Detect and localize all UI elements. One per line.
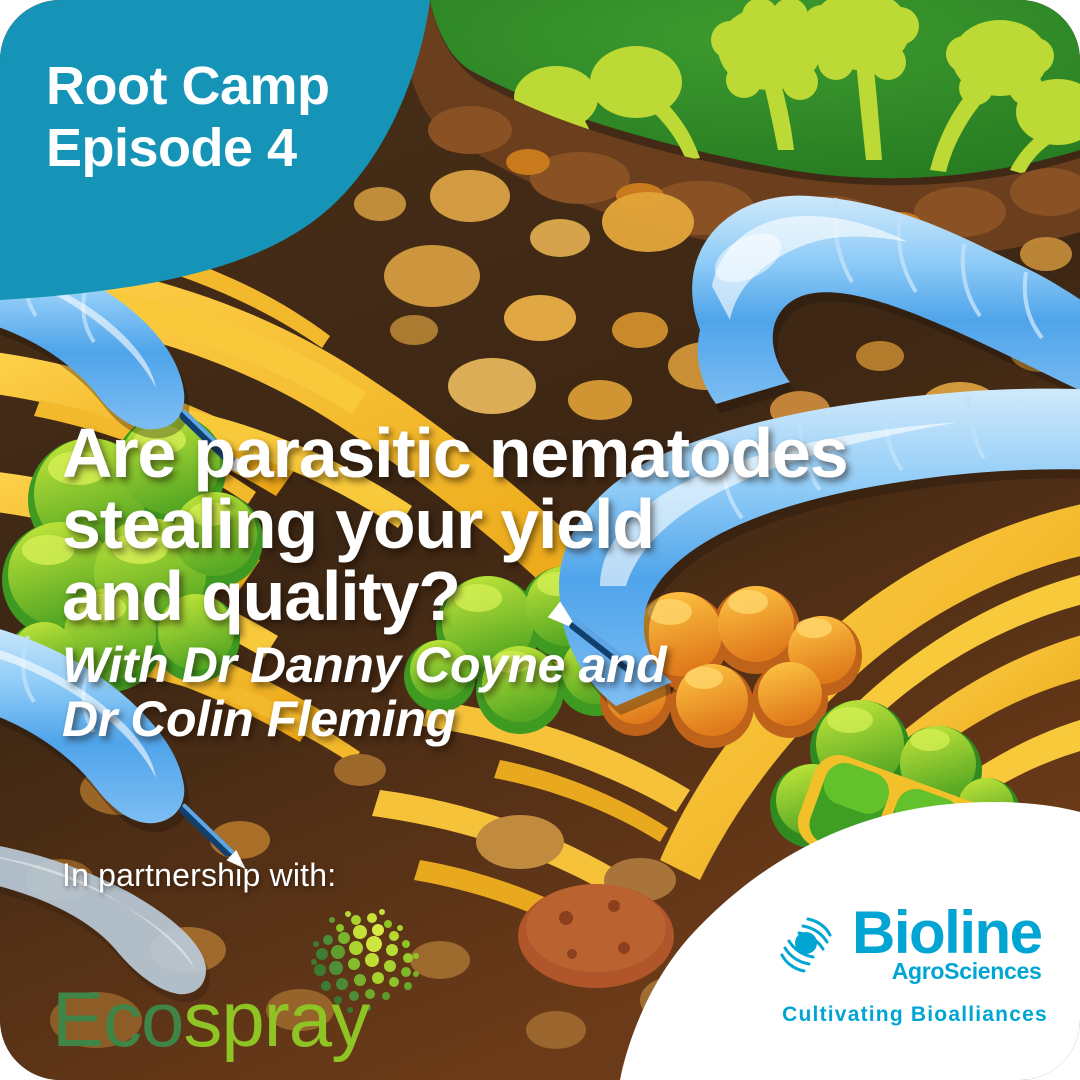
ecospray-word-spray: spray: [183, 975, 369, 1063]
episode-badge-text: Root Camp Episode 4: [46, 56, 329, 179]
episode-title: Are parasitic nematodes stealing your yi…: [62, 418, 1042, 632]
headline-block: Are parasitic nematodes stealing your yi…: [62, 418, 1042, 746]
ecospray-word-eco: Eco: [52, 975, 183, 1063]
bioline-logo: Bioline AgroSciences Cultivating Bioalli…: [770, 905, 1060, 1027]
ecospray-wordmark: Ecospray: [52, 980, 369, 1058]
episode-speakers: With Dr Danny Coyne and Dr Colin Fleming: [62, 638, 1042, 746]
ecospray-logo: Ecospray: [52, 898, 452, 1058]
bioline-tagline: Cultivating Bioalliances: [770, 1003, 1060, 1027]
bioline-name: Bioline: [852, 905, 1042, 960]
partnership-label: In partnership with:: [62, 857, 336, 894]
podcast-episode-poster: Root Camp Episode 4 Are parasitic nemato…: [0, 0, 1080, 1080]
bioline-swirl-icon: [770, 909, 842, 981]
